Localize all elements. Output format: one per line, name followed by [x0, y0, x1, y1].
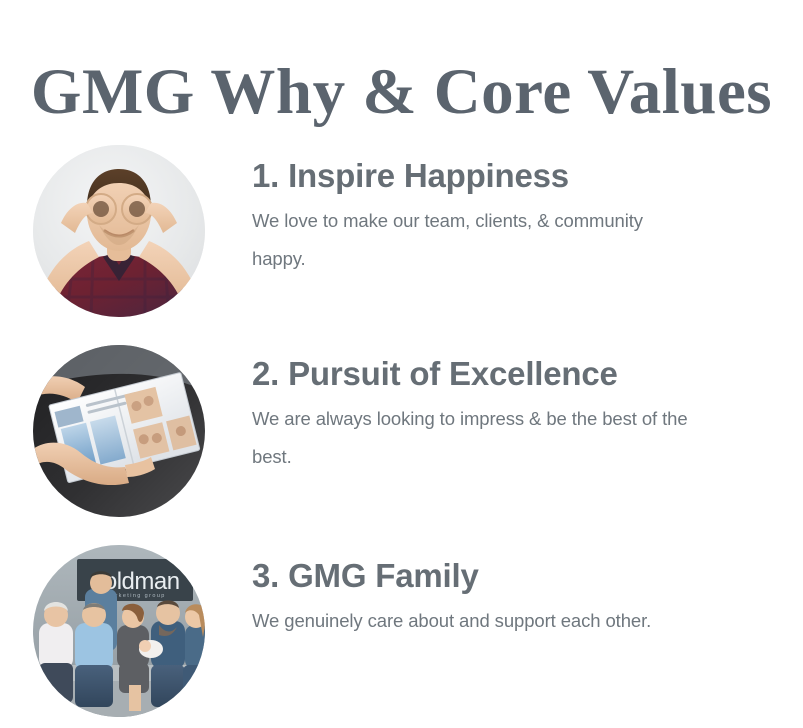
value-heading-1: 1. Inspire Happiness: [252, 156, 772, 196]
core-values-list: 1. Inspire Happiness We love to make our…: [0, 128, 803, 728]
value-text-1: 1. Inspire Happiness We love to make our…: [252, 156, 772, 278]
value-description-3: We genuinely care about and support each…: [252, 602, 692, 640]
value-heading-3: 3. GMG Family: [252, 556, 772, 596]
photo-pursuit-of-excellence: [33, 345, 205, 517]
value-text-2: 2. Pursuit of Excellence We are always l…: [252, 354, 772, 476]
photo-inspire-happiness: [33, 145, 205, 317]
value-heading-2: 2. Pursuit of Excellence: [252, 354, 772, 394]
page-title: GMG Why & Core Values: [0, 52, 803, 132]
value-description-2: We are always looking to impress & be th…: [252, 400, 692, 476]
value-item-2: 2. Pursuit of Excellence We are always l…: [0, 328, 803, 528]
photo-gmg-family: goldman marketing group: [33, 545, 205, 717]
value-text-3: 3. GMG Family We genuinely care about an…: [252, 556, 772, 640]
value-description-1: We love to make our team, clients, & com…: [252, 202, 692, 278]
value-item-3: goldman marketing group: [0, 528, 803, 728]
value-item-1: 1. Inspire Happiness We love to make our…: [0, 128, 803, 328]
